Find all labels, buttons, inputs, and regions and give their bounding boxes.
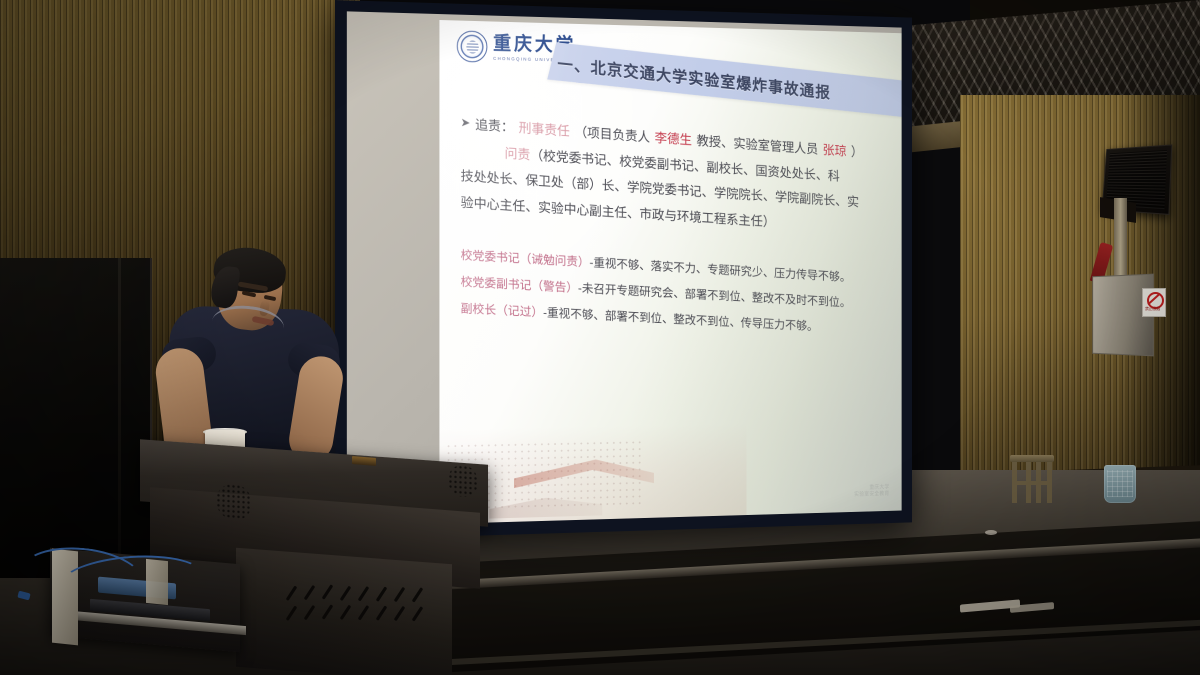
presenter (168, 252, 338, 472)
waste-basket (1104, 465, 1136, 503)
no-smoking-label: 禁止吸烟 (1145, 306, 1160, 312)
penalty-role: 校党委副书记 (461, 274, 532, 293)
penalty-sanction: （记过） (496, 302, 543, 319)
stool-seat (1010, 455, 1054, 462)
penalty-sanction: （诫勉问责） (520, 251, 590, 270)
lead-label: 追责： (475, 112, 514, 141)
penalty-sanction: （警告） (531, 278, 578, 295)
cabinet-shading (0, 258, 150, 578)
floor-marking (985, 530, 997, 535)
accountability-block: ➤ 追责： 刑事责任 （项目负责人李德生教授、实验室管理人员张琼） 问责（校党委… (461, 111, 890, 242)
stool-rail (1012, 481, 1052, 485)
projection-screen-surface: 重庆大学 CHONGQING UNIVERSITY 一、北京交通大学实验室爆炸事… (347, 11, 902, 526)
no-smoking-sign: 禁止吸烟 (1142, 288, 1166, 317)
person-name-2: 张琼 (823, 138, 847, 165)
arrow-bullet-icon: ➤ (461, 111, 471, 133)
person-name-1: 李德生 (655, 126, 692, 154)
basket-mesh (1107, 470, 1133, 497)
slide-watermark: 重庆大学 实验室安全教育 (854, 485, 889, 499)
administrative-liability-label: 问责 (505, 145, 531, 162)
university-seal-icon (457, 30, 488, 62)
penalty-role: 校党委书记 (461, 247, 520, 265)
slide-title: 一、北京交通大学实验室爆炸事故通报 (557, 44, 901, 120)
watermark-line-2: 实验室安全教育 (854, 491, 889, 499)
penalty-role: 副校长 (461, 301, 497, 318)
powerpoint-slide: 重庆大学 CHONGQING UNIVERSITY 一、北京交通大学实验室爆炸事… (439, 20, 901, 524)
line1-end: ） (851, 140, 863, 166)
slide-body: ➤ 追责： 刑事责任 （项目负责人李德生教授、实验室管理人员张琼） 问责（校党委… (461, 111, 890, 321)
criminal-liability-label: 刑事责任 (519, 116, 570, 146)
wooden-stool (1010, 455, 1054, 503)
penalties-block: 校党委书记（诫勉问责）-重视不够、落实不力、专题研究少、压力传导不够。 校党委副… (461, 241, 890, 342)
lecture-hall-photo: 禁止吸烟 重庆大学 CHONGQING UNIVERSITY (0, 0, 1200, 675)
